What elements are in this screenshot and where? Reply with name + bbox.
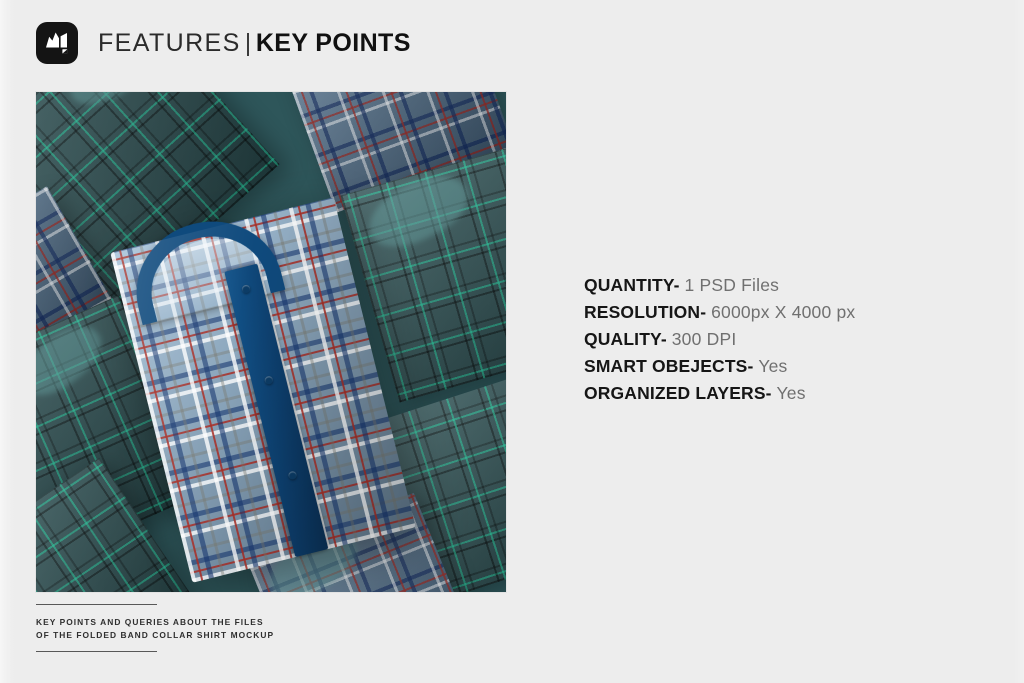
spec-row-quantity: QUANTITY- 1 PSD Files xyxy=(584,272,984,299)
page-left-edge-gradient xyxy=(0,0,14,683)
specs-list: QUANTITY- 1 PSD Files RESOLUTION- 6000px… xyxy=(584,272,984,407)
page-title: FEATURES|KEY POINTS xyxy=(98,31,411,56)
spec-value-quantity: 1 PSD Files xyxy=(685,275,780,295)
spec-label-smart-objects: SMART OBEJECTS- xyxy=(584,356,753,376)
spec-label-resolution: RESOLUTION- xyxy=(584,302,706,322)
caption-line-2: OF THE FOLDED BAND COLLAR SHIRT MOCKUP xyxy=(36,630,274,640)
brand-mark-icon xyxy=(36,22,78,64)
caption-rule-bottom xyxy=(36,651,157,652)
page-header: FEATURES|KEY POINTS xyxy=(36,22,411,64)
spec-label-organized-layers: ORGANIZED LAYERS- xyxy=(584,383,772,403)
spec-value-smart-objects: Yes xyxy=(758,356,787,376)
caption-text: KEY POINTS AND QUERIES ABOUT THE FILESOF… xyxy=(36,616,276,642)
caption-rule-top xyxy=(36,604,157,605)
page-right-edge-gradient xyxy=(1014,0,1024,683)
spec-row-quality: QUALITY- 300 DPI xyxy=(584,326,984,353)
spec-label-quantity: QUANTITY- xyxy=(584,275,680,295)
shirt-button xyxy=(241,284,251,294)
spec-value-resolution: 6000px X 4000 px xyxy=(711,302,855,322)
spec-row-smart-objects: SMART OBEJECTS- Yes xyxy=(584,353,984,380)
image-caption-block: KEY POINTS AND QUERIES ABOUT THE FILESOF… xyxy=(36,604,276,652)
page-title-bold: KEY POINTS xyxy=(256,29,411,57)
spec-row-resolution: RESOLUTION- 6000px X 4000 px xyxy=(584,299,984,326)
product-mockup-image xyxy=(36,92,506,592)
shirt-button xyxy=(287,471,297,481)
caption-line-1: KEY POINTS AND QUERIES ABOUT THE FILES xyxy=(36,617,264,627)
page-title-separator: | xyxy=(241,29,256,57)
spec-row-organized-layers: ORGANIZED LAYERS- Yes xyxy=(584,380,984,407)
spec-value-organized-layers: Yes xyxy=(777,383,806,403)
shirt-button xyxy=(264,376,274,386)
spec-label-quality: QUALITY- xyxy=(584,329,667,349)
spec-value-quality: 300 DPI xyxy=(672,329,737,349)
page-title-light: FEATURES xyxy=(98,29,241,57)
